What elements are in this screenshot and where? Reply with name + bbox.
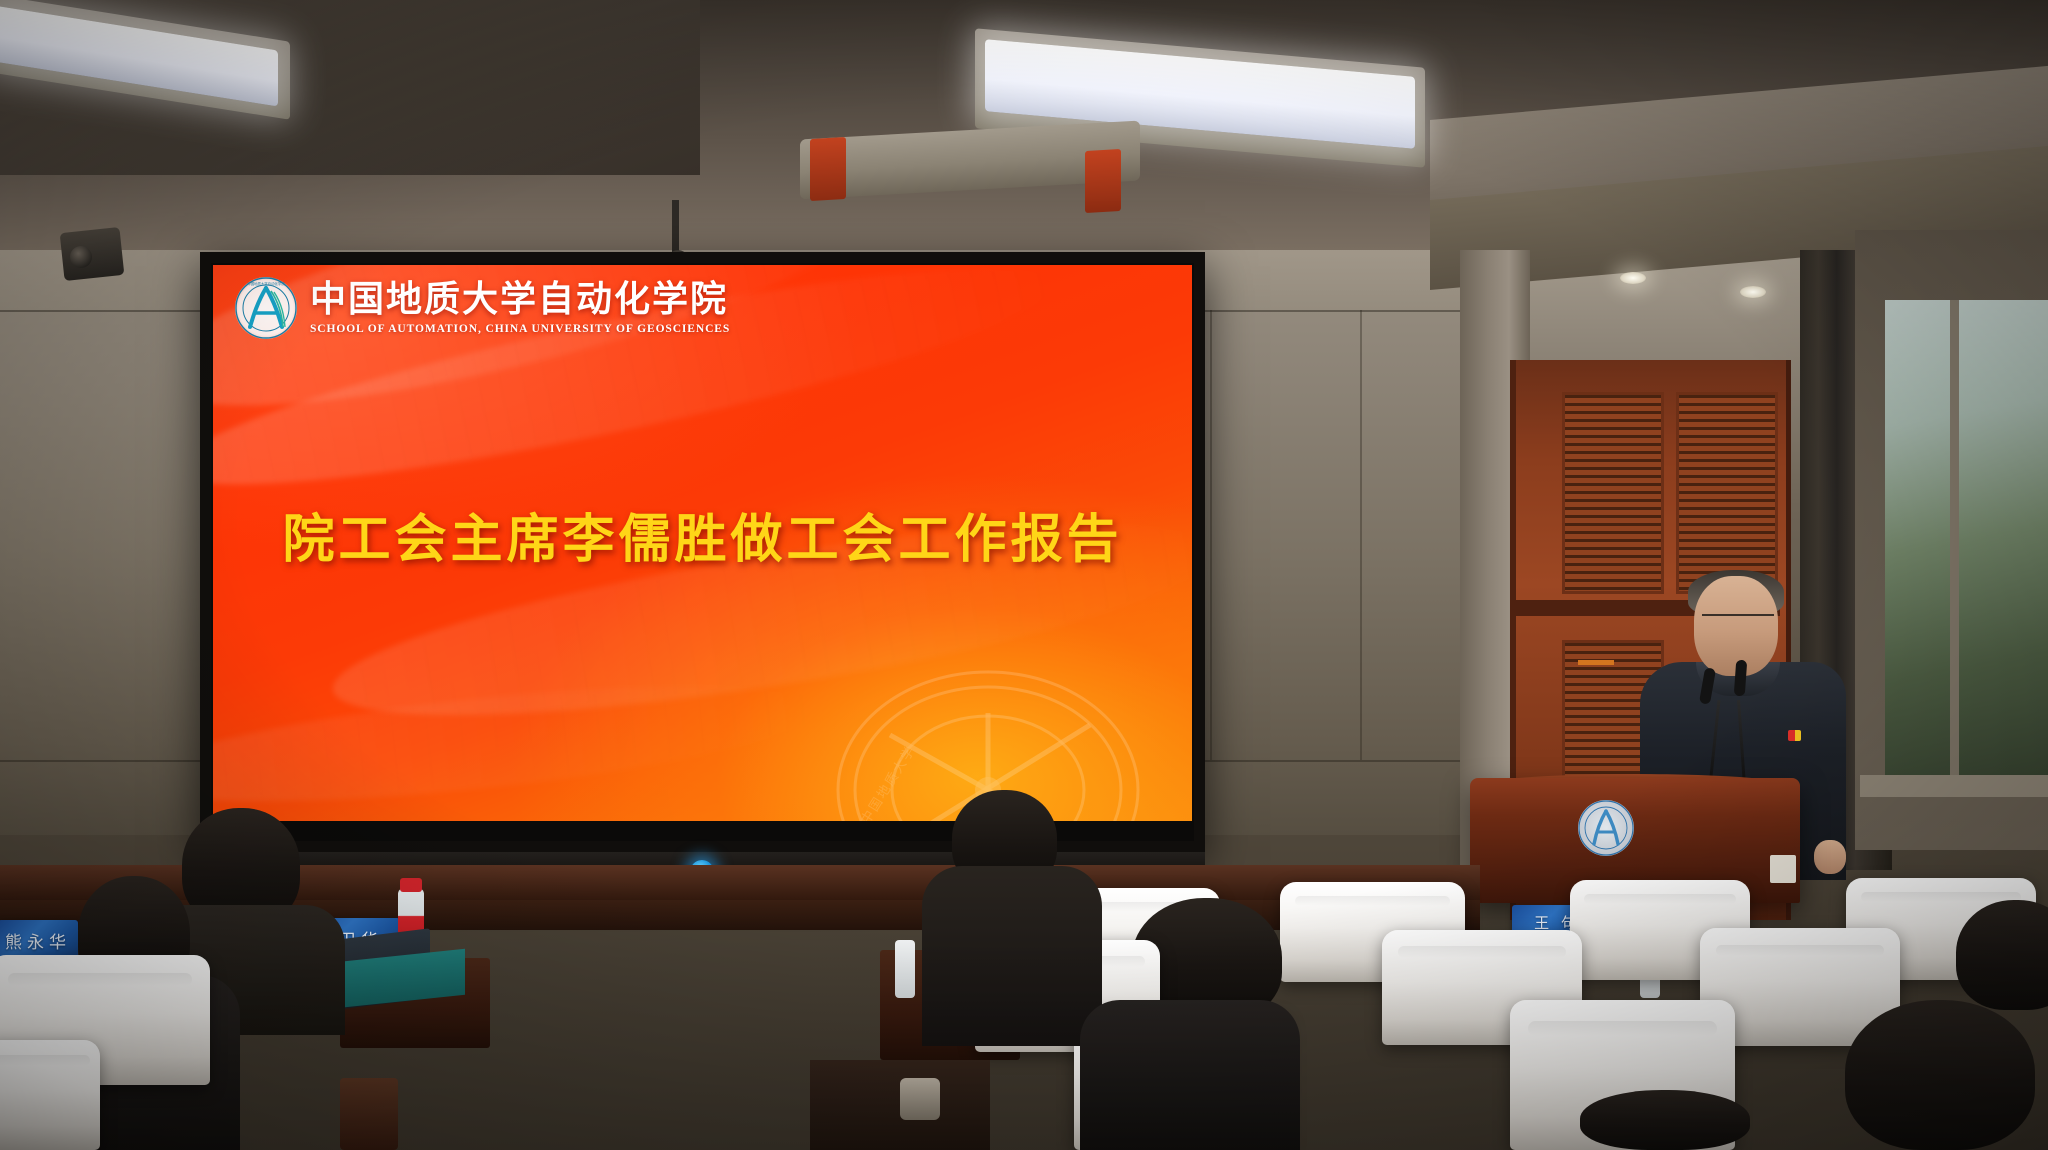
nameplate-xiong-yonghua: 熊永华 xyxy=(0,920,78,960)
chair-leg xyxy=(340,1078,398,1150)
wall-seam-vertical xyxy=(1360,310,1362,760)
floor-object xyxy=(900,1078,940,1120)
screen-bezel xyxy=(200,252,1205,852)
cabinet-handle[interactable] xyxy=(1578,660,1614,665)
projector-bracket-right xyxy=(1085,149,1121,213)
attendee-head xyxy=(1845,1000,2035,1150)
meeting-room-photo: 中国地质大学 自动化学院 GEOSCIENCES AUTOMATION xyxy=(0,0,2048,1150)
water-bottle xyxy=(895,940,915,998)
ceiling-spotlight-1 xyxy=(1620,272,1646,284)
attendee-shoulders xyxy=(1080,1000,1300,1150)
security-camera-lens xyxy=(70,246,92,268)
window xyxy=(1885,300,2048,780)
glasses-icon xyxy=(1702,614,1774,631)
window-mullion xyxy=(1950,300,1959,780)
attendee-head xyxy=(1956,900,2048,1010)
flag-lapel-pin-icon xyxy=(1788,730,1801,741)
cabinet-louver-panel xyxy=(1676,392,1778,594)
nameplate-text: 熊永华 xyxy=(5,928,71,953)
wall-seam-vertical xyxy=(1210,310,1212,760)
ceiling-spotlight-2 xyxy=(1740,286,1766,298)
presenter-hand xyxy=(1814,840,1846,874)
chair xyxy=(0,1040,100,1150)
podium-note-paper xyxy=(1770,855,1796,883)
projector-bracket-left xyxy=(810,137,846,201)
window-sill xyxy=(1860,775,2048,797)
cug-university-seal-icon xyxy=(1578,800,1634,856)
water-bottle-cap xyxy=(400,878,422,892)
cabinet-louver-panel xyxy=(1562,392,1664,594)
attendee-shoulders xyxy=(922,866,1102,1046)
attendee-head xyxy=(1580,1090,1750,1150)
